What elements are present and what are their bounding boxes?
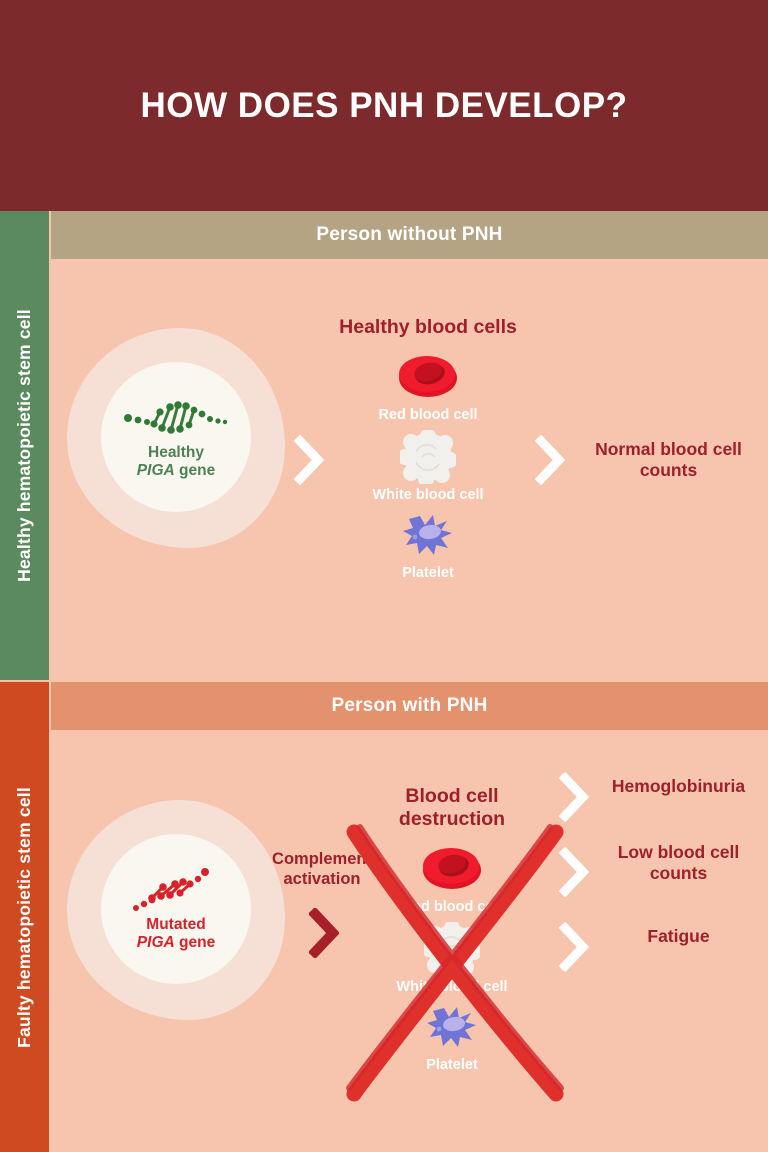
panel-with-body: Mutated PIGA gene Complement activation … <box>51 730 768 1152</box>
page-header: HOW DOES PNH DEVELOP? <box>0 0 768 211</box>
red-blood-cell-icon <box>397 349 459 405</box>
cell-nucleus: Mutated PIGA gene <box>101 834 251 984</box>
healthy-dna-icon <box>121 394 231 440</box>
panel-without-heading: Person without PNH <box>316 224 502 246</box>
healthy-gene-name: PIGA <box>137 462 175 479</box>
rail-faulty-label: Faulty hematopoietic stem cell <box>14 787 35 1048</box>
healthy-blood-cells-title: Healthy blood cells <box>339 316 517 339</box>
rail-faulty-stem-cell: Faulty hematopoietic stem cell <box>0 682 49 1152</box>
panel-with-heading-bar: Person with PNH <box>51 682 768 730</box>
white-blood-cell-icon <box>400 429 456 485</box>
chevron-right-icon-complement <box>309 908 339 958</box>
page-title: HOW DOES PNH DEVELOP? <box>141 86 628 126</box>
faulty-stem-cell-graphic: Mutated PIGA gene <box>67 800 285 1020</box>
mutated-gene-name: PIGA <box>137 934 175 951</box>
outcome-hemoglobinuria: Hemoglobinuria <box>596 776 761 797</box>
cell-nucleus: Healthy PIGA gene <box>101 362 251 512</box>
red-blood-cell-label: Red blood cell <box>378 407 477 423</box>
cell-item-red-blood-cell: Red blood cell <box>378 349 477 423</box>
blood-cell-destruction-title: Blood cell destruction <box>362 785 542 831</box>
destroyed-blood-cells-group: Blood cell destruction Red blood cell <box>362 785 542 1073</box>
infographic-page: HOW DOES PNH DEVELOP? Healthy hematopoie… <box>0 0 768 1152</box>
outcome-fatigue-label: Fatigue <box>647 926 709 947</box>
panel-with-heading: Person with PNH <box>331 695 487 717</box>
panel-without-body: Healthy PIGA gene Healthy blood cells <box>51 259 768 680</box>
cell-item-white-blood-cell: White blood cell <box>396 921 507 995</box>
chevron-right-icon-4 <box>559 847 589 897</box>
outcome-low-blood-cell-counts-label: Low blood cell counts <box>596 842 761 884</box>
panel-without-heading-bar: Person without PNH <box>51 211 768 259</box>
outcome-low-blood-cell-counts: Low blood cell counts <box>596 842 761 884</box>
outcome-normal-counts: Normal blood cell counts <box>581 439 756 481</box>
healthy-gene-label: Healthy PIGA gene <box>137 444 215 481</box>
healthy-gene-line1: Healthy <box>137 444 215 462</box>
outcome-hemoglobinuria-label: Hemoglobinuria <box>612 776 745 797</box>
chevron-right-icon-3 <box>559 772 589 822</box>
cell-item-white-blood-cell: White blood cell <box>372 429 483 503</box>
cell-item-platelet: Platelet <box>424 999 480 1073</box>
platelet-icon <box>400 507 456 563</box>
rail-healthy-label: Healthy hematopoietic stem cell <box>14 309 35 582</box>
mutated-gene-line2: gene <box>179 934 215 951</box>
healthy-gene-line2: gene <box>179 462 215 479</box>
panel-person-with-pnh: Person with PNH <box>51 682 768 1152</box>
cell-item-red-blood-cell: Red blood cell <box>402 841 501 915</box>
chevron-right-icon-2 <box>535 435 565 485</box>
mutated-gene-label: Mutated PIGA gene <box>137 916 215 953</box>
chevron-right-icon-5 <box>559 922 589 972</box>
mutated-gene-line1: Mutated <box>137 916 215 934</box>
platelet-label: Platelet <box>402 565 454 581</box>
chevron-right-icon-1 <box>294 435 324 485</box>
platelet-icon <box>424 999 480 1055</box>
white-blood-cell-icon <box>424 921 480 977</box>
white-blood-cell-label: White blood cell <box>396 979 507 995</box>
rail-healthy-stem-cell: Healthy hematopoietic stem cell <box>0 211 49 680</box>
red-blood-cell-label: Red blood cell <box>402 899 501 915</box>
cell-item-platelet: Platelet <box>400 507 456 581</box>
mutated-dna-icon <box>128 866 224 912</box>
healthy-stem-cell-graphic: Healthy PIGA gene <box>67 328 285 548</box>
red-blood-cell-icon <box>421 841 483 897</box>
white-blood-cell-label: White blood cell <box>372 487 483 503</box>
panel-person-without-pnh: Person without PNH <box>51 211 768 680</box>
outcome-fatigue: Fatigue <box>596 926 761 947</box>
platelet-label: Platelet <box>426 1057 478 1073</box>
outcome-normal-counts-label: Normal blood cell counts <box>581 439 756 481</box>
healthy-blood-cells-group: Healthy blood cells Red blood cell <box>338 316 518 581</box>
